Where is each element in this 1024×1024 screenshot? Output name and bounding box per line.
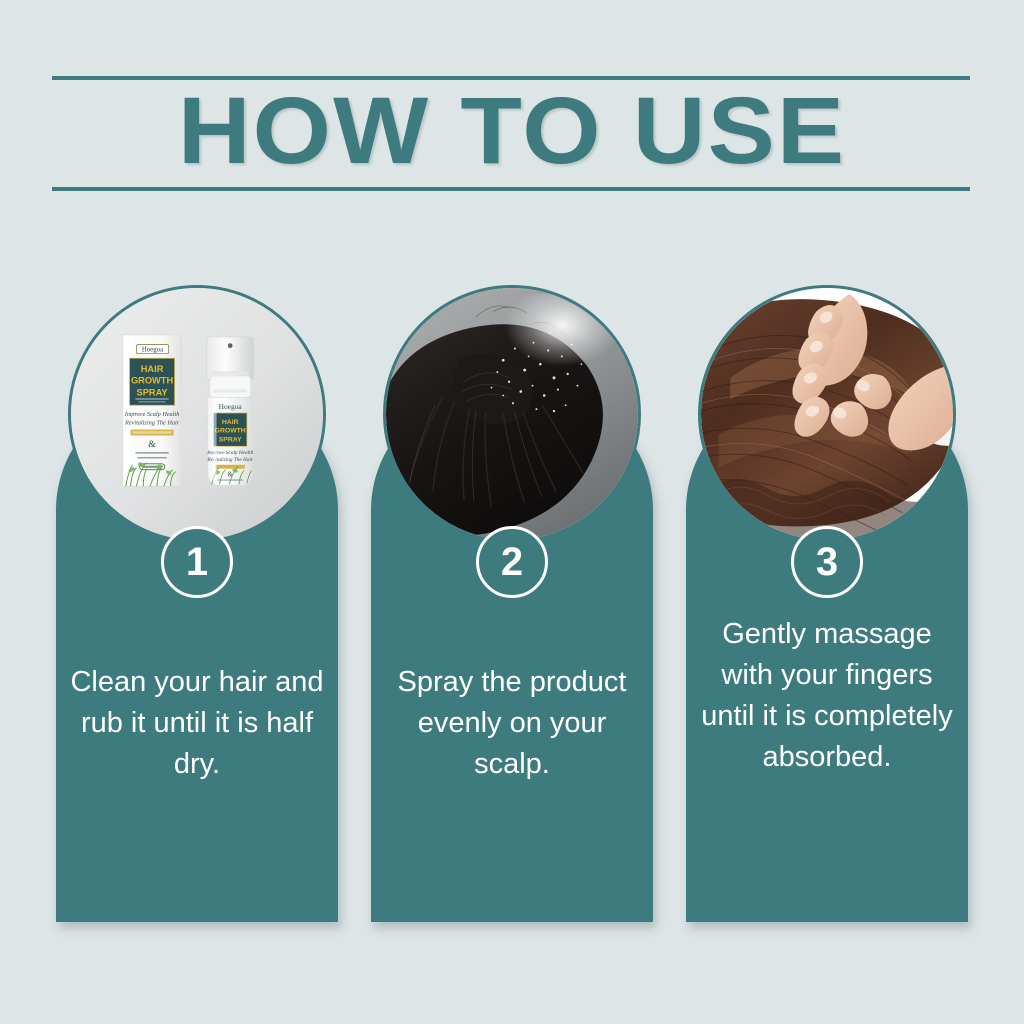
- step-2-caption: Spray the product evenly on your scalp.: [379, 662, 645, 785]
- svg-text:HAIR: HAIR: [222, 419, 239, 426]
- step-1-caption: Clean your hair and rub it until it is h…: [64, 662, 330, 785]
- step-1-number-badge: 1: [161, 526, 233, 598]
- steps-container: Hoegoa HAIR GROWTH SPRAY Improve Scalp H…: [0, 0, 1024, 1024]
- step-3-image: [698, 285, 956, 543]
- step-2-image: [383, 285, 641, 543]
- step-2-number-badge: 2: [476, 526, 548, 598]
- svg-text:&: &: [148, 439, 156, 450]
- svg-text:Hoegoa: Hoegoa: [219, 402, 243, 411]
- svg-text:HAIR: HAIR: [141, 364, 164, 374]
- svg-text:GROWTH: GROWTH: [215, 428, 246, 435]
- infographic-canvas: HOW TO USE: [0, 0, 1024, 1024]
- svg-text:GROWTH: GROWTH: [131, 376, 174, 386]
- svg-text:SPRAY: SPRAY: [219, 436, 242, 443]
- svg-text:Improve Scalp Health: Improve Scalp Health: [124, 411, 180, 418]
- step-3-caption: Gently massage with your fingers until i…: [694, 614, 960, 778]
- svg-text:Hoegoa: Hoegoa: [142, 346, 163, 353]
- step-1-image: Hoegoa HAIR GROWTH SPRAY Improve Scalp H…: [68, 285, 326, 543]
- svg-text:SPRAY: SPRAY: [137, 387, 169, 397]
- step-3-number-badge: 3: [791, 526, 863, 598]
- svg-text:Revitalizing The Hair: Revitalizing The Hair: [124, 420, 180, 427]
